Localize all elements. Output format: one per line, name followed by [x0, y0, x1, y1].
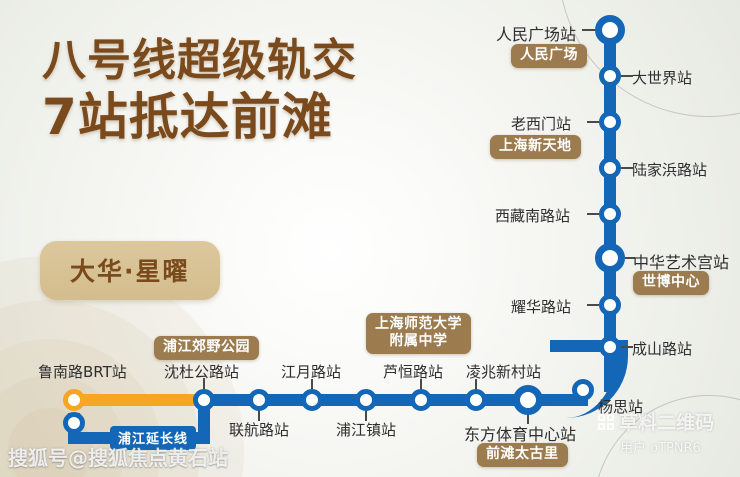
headline-block: 八号线超级轨交 7站抵达前滩	[42, 36, 357, 145]
station-dot-lingzhao-xincun[interactable]	[465, 389, 487, 411]
poi-line-2: 附属中学	[375, 333, 462, 350]
poi-badge-shibo-zhongxin: 世博中心	[633, 271, 709, 295]
station-label-yaohua-lu: 耀华路站	[511, 296, 571, 317]
station-tick-yaohua-lu	[587, 304, 599, 306]
station-label-lunan-lu-brt: 鲁南路BRT站	[38, 361, 127, 382]
station-label-chengshan-lu: 成山路站	[632, 338, 692, 359]
poi-badge-renmin-guangchang: 人民广场	[511, 44, 587, 68]
station-label-luheng-lu: 芦恒路站	[383, 361, 443, 382]
station-label-dashijie: 大世界站	[632, 67, 692, 88]
watermark-qr-title: 草料二维码	[619, 408, 714, 435]
station-dot-laoximen[interactable]	[599, 111, 621, 133]
watermark-qr-user: 用户 oTPNR6	[620, 437, 714, 456]
station-tick-laoximen	[587, 121, 599, 123]
station-dot-jiangyue-lu[interactable]	[301, 389, 323, 411]
poi-badge-jiaoye-gongyuan: 浦江郊野公园	[154, 336, 259, 360]
metro-line-poster: 八号线超级轨交 7站抵达前滩 大华·星曜 人民广场站 人民广场 大世界站 老	[0, 0, 740, 477]
station-dot-xizang-nanlu[interactable]	[599, 203, 621, 225]
station-label-zhonghua-yishugong: 中华艺术宫站	[633, 249, 729, 273]
qr-code-icon	[598, 414, 614, 430]
watermark-sohu: 搜狐号@搜狐焦点黄石站	[8, 442, 228, 471]
poi-line-1: 上海师范大学	[375, 316, 462, 333]
station-dot-lujiabang-lu[interactable]	[599, 157, 621, 179]
station-dot-lunan-lu-brt[interactable]	[63, 389, 85, 411]
line-segment-branch-orange	[68, 394, 208, 406]
station-label-pujiangzhen: 浦江镇站	[336, 419, 396, 440]
station-label-shendu-gonglu: 沈杜公路站	[164, 361, 239, 382]
station-tick-renmin-guangchang	[582, 29, 595, 31]
watermark-qr-block: 草料二维码 用户 oTPNR6	[598, 408, 714, 456]
station-dot-renmin-guangchang[interactable]	[595, 15, 625, 45]
station-dot-branch-terminus[interactable]	[63, 412, 85, 434]
station-label-dongfang-tiyu-zhongxin: 东方体育中心站	[464, 421, 576, 445]
station-dot-shendu-gonglu[interactable]	[193, 389, 215, 411]
station-dot-yangsi[interactable]	[572, 379, 594, 401]
poi-badge-qiantan-taikooli: 前滩太古里	[477, 443, 568, 467]
station-dot-zhonghua-yishugong[interactable]	[595, 243, 625, 273]
poi-badge-xintiandi: 上海新天地	[490, 135, 581, 159]
station-dot-pujiangzhen[interactable]	[355, 389, 377, 411]
poi-badge-shida-fuzhong: 上海师范大学 附属中学	[366, 313, 471, 354]
station-label-xizang-nanlu: 西藏南路站	[495, 205, 570, 226]
headline-line-1: 八号线超级轨交	[42, 36, 357, 85]
headline-line-2: 7站抵达前滩	[42, 89, 357, 145]
station-label-lujiabang-lu: 陆家浜路站	[632, 159, 707, 180]
project-name-badge: 大华·星曜	[40, 241, 220, 300]
station-dot-dongfang-tiyu-zhongxin[interactable]	[513, 385, 543, 415]
station-label-laoximen: 老西门站	[511, 113, 571, 134]
station-label-lingzhao-xincun: 凌兆新村站	[466, 361, 541, 382]
station-label-jiangyue-lu: 江月路站	[281, 361, 341, 382]
station-dot-yaohua-lu[interactable]	[599, 294, 621, 316]
station-label-renmin-guangchang: 人民广场站	[496, 21, 576, 45]
station-tick-xizang-nanlu	[587, 213, 599, 215]
station-dot-lianhang-lu[interactable]	[248, 389, 270, 411]
station-dot-dashijie[interactable]	[599, 65, 621, 87]
station-dot-chengshan-lu[interactable]	[599, 336, 621, 358]
project-name-label: 大华·星曜	[70, 257, 190, 286]
station-label-lianhang-lu: 联航路站	[229, 419, 289, 440]
station-dot-luheng-lu[interactable]	[410, 389, 432, 411]
